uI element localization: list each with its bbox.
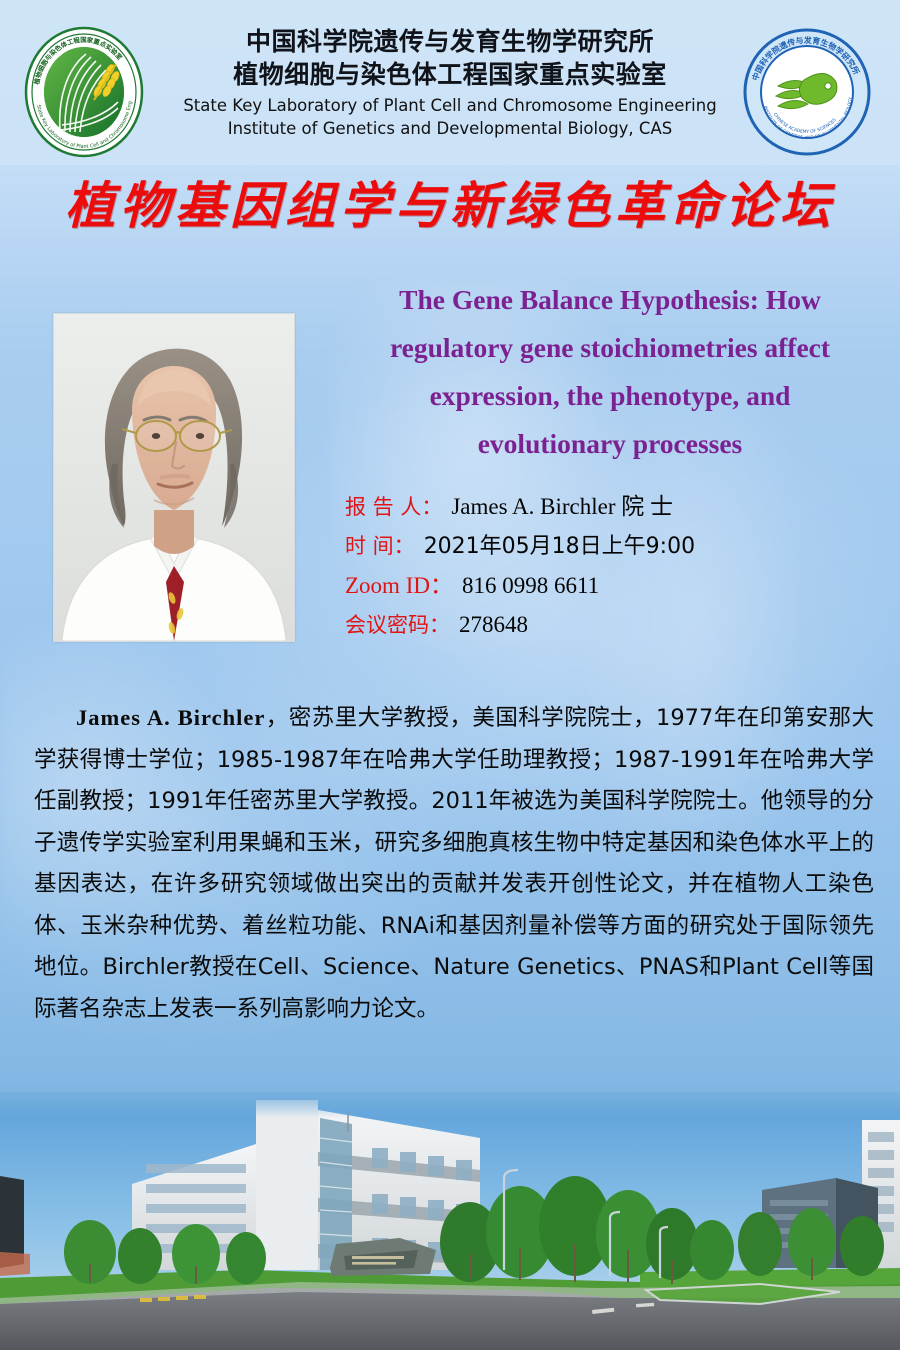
time-value: 2021年05月18日上午9:00	[424, 530, 695, 564]
talk-title: The Gene Balance Hypothesis: How regulat…	[340, 276, 880, 468]
forum-title: 植物基因组学与新绿色革命论坛	[0, 176, 900, 236]
talk-title-line-2: regulatory gene stoichiometries affect	[340, 324, 880, 372]
lab-name-en: State Key Laboratory of Plant Cell and C…	[170, 94, 730, 117]
igdb-cas-logo: 中国科学院遗传与发育生物学研究所 INSTITUTE OF GENETICS A…	[742, 24, 872, 160]
state-key-laboratory-logo: 植物细胞与染色体工程国家重点实验室 State Key Laboratory o…	[20, 24, 148, 160]
speaker-portrait-photo	[53, 313, 295, 642]
password-value: 278648	[459, 608, 528, 642]
password-label: 会议密码：	[345, 608, 450, 642]
speaker-value: James A. Birchler 院 士	[451, 490, 673, 524]
talk-info-block: 报 告 人： James A. Birchler 院 士 时 间： 2021年0…	[345, 490, 865, 647]
header-text-block: 中国科学院遗传与发育生物学研究所 植物细胞与染色体工程国家重点实验室 State…	[170, 26, 730, 140]
info-row-time: 时 间： 2021年05月18日上午9:00	[345, 529, 865, 564]
talk-title-line-1: The Gene Balance Hypothesis: How	[340, 276, 880, 324]
speaker-biography: James A. Birchler，密苏里大学教授，美国科学院院士，1977年在…	[34, 697, 874, 1030]
poster-header: 植物细胞与染色体工程国家重点实验室 State Key Laboratory o…	[0, 0, 900, 165]
institute-name-en: Institute of Genetics and Developmental …	[170, 117, 730, 140]
talk-title-line-3: expression, the phenotype, and	[340, 372, 880, 420]
time-label: 时 间：	[345, 529, 415, 563]
campus-building-photo	[0, 1092, 900, 1350]
info-row-zoom-id: Zoom ID： 816 0998 6611	[345, 569, 865, 603]
talk-title-line-4: evolutionary processes	[340, 420, 880, 468]
bio-body-text: ，密苏里大学教授，美国科学院院士，1977年在印第安那大学获得博士学位；1985…	[34, 705, 874, 1022]
zoom-id-label: Zoom ID：	[345, 569, 453, 603]
info-row-password: 会议密码： 278648	[345, 608, 865, 642]
zoom-id-value: 816 0998 6611	[462, 569, 599, 603]
info-row-speaker: 报 告 人： James A. Birchler 院 士	[345, 490, 865, 524]
poster-root: 植物细胞与染色体工程国家重点实验室 State Key Laboratory o…	[0, 0, 900, 1350]
institute-name-cn: 中国科学院遗传与发育生物学研究所	[170, 26, 730, 57]
bio-speaker-name: James A. Birchler	[76, 705, 265, 730]
speaker-label: 报 告 人：	[345, 490, 442, 524]
lab-name-cn: 植物细胞与染色体工程国家重点实验室	[170, 59, 730, 90]
